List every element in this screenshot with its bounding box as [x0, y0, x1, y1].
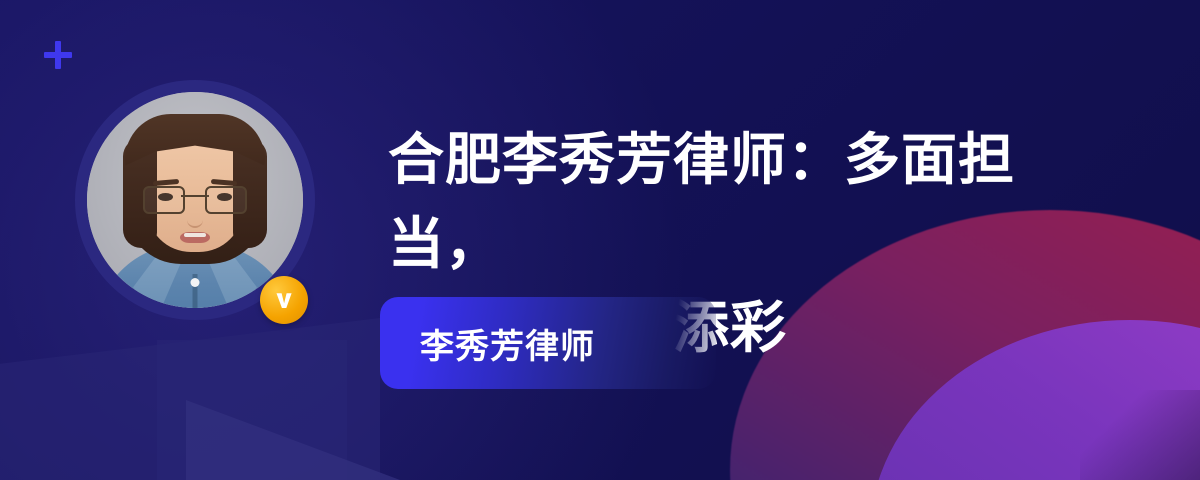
author-chip-label: 李秀芳律师: [420, 319, 595, 368]
wedge-column-shape: [157, 340, 347, 480]
portrait-lens-right: [205, 186, 247, 214]
wedge-triangle-shape: [186, 400, 416, 480]
portrait-lens-left: [143, 186, 185, 214]
corner-fade-shape: [1080, 390, 1200, 480]
avatar-photo: [87, 92, 303, 308]
article-banner: 合肥李秀芳律师：多面担当， 为城市法治添彩 李秀芳律师: [0, 0, 1200, 480]
verified-check-v-icon: [260, 276, 308, 324]
portrait-teeth: [184, 233, 206, 237]
portrait-shirt-button: [191, 278, 200, 287]
plus-icon: [44, 41, 72, 69]
wedge-left-shape: [0, 318, 380, 480]
portrait-glasses: [143, 186, 247, 212]
portrait-nose: [187, 210, 203, 228]
author-chip[interactable]: 李秀芳律师: [380, 297, 716, 389]
avatar: [75, 80, 315, 320]
